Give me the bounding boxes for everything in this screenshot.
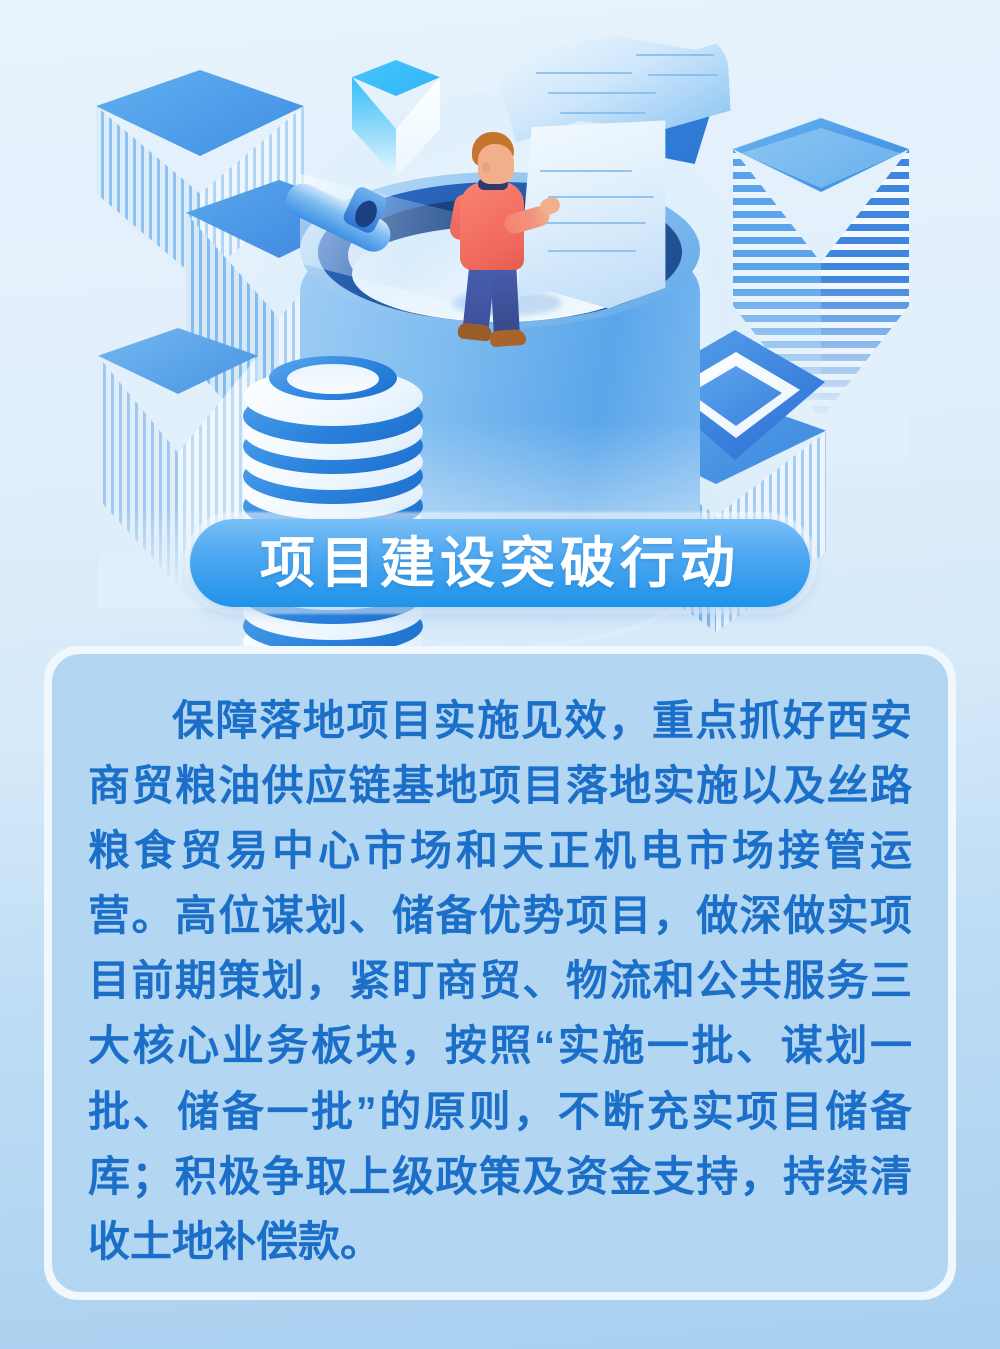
title-pill: 项目建设突破行动 (190, 519, 810, 607)
poster-root: 项目建设突破行动 保障落地项目实施见效，重点抓好西安商贸粮油供应链基地项目落地实… (0, 0, 1000, 1349)
title-banner: 项目建设突破行动 (183, 512, 817, 614)
body-paragraph: 保障落地项目实施见效，重点抓好西安商贸粮油供应链基地项目落地实施以及丝路粮食贸易… (88, 688, 912, 1274)
cyan-block-icon (352, 60, 440, 180)
person-figure-icon (452, 132, 562, 342)
content-card-inner: 保障落地项目实施见效，重点抓好西安商贸粮油供应链基地项目落地实施以及丝路粮食贸易… (52, 654, 948, 1292)
page-title: 项目建设突破行动 (260, 536, 740, 591)
content-card: 保障落地项目实施见效，重点抓好西安商贸粮油供应链基地项目落地实施以及丝路粮食贸易… (44, 646, 956, 1300)
